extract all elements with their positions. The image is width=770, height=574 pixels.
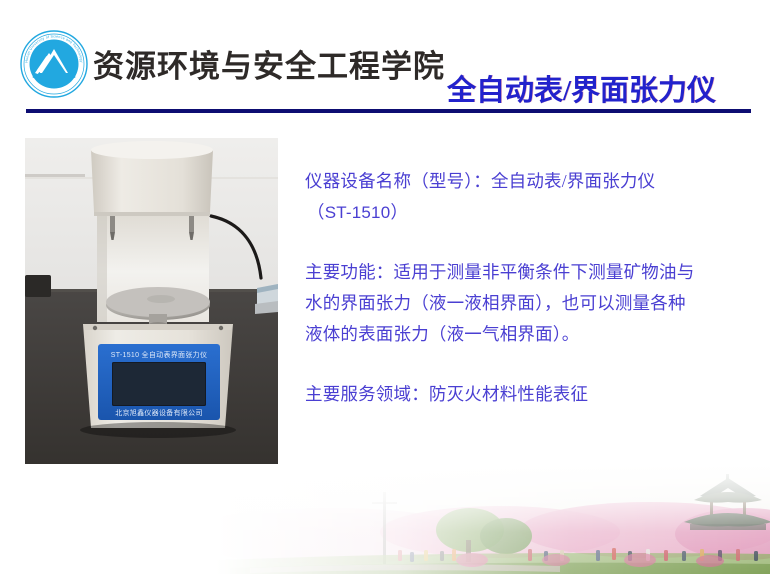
slide-title: 全自动表/界面张力仪 xyxy=(447,67,716,109)
slide-header: Hunan University of Science and Technolo… xyxy=(0,0,770,118)
header-divider xyxy=(26,109,751,113)
svg-text:北京旭鑫仪器设备有限公司: 北京旭鑫仪器设备有限公司 xyxy=(115,408,203,417)
model-paren-close: ） xyxy=(390,202,408,222)
university-logo: Hunan University of Science and Technolo… xyxy=(19,29,89,99)
campus-scene-illustration xyxy=(0,464,770,574)
main-function-line-3: 液体的表面张力（液一气相界面）。 xyxy=(305,319,755,350)
bottom-decoration xyxy=(0,464,770,574)
svg-text:ST-1510 全自动表界面张力仪: ST-1510 全自动表界面张力仪 xyxy=(111,350,208,359)
main-function-line-1: 主要功能：适用于测量非平衡条件下测量矿物油与 xyxy=(305,257,755,288)
main-function-line-2: 水的界面张力（液一液相界面），也可以测量各种 xyxy=(305,288,755,319)
instrument-photo-illustration: ST-1510 全自动表界面张力仪 北京旭鑫仪器设备有限公司 xyxy=(25,138,278,465)
service-field-line: 主要服务领域：防灭火材料性能表征 xyxy=(305,379,755,410)
paragraph-gap-1 xyxy=(305,228,755,257)
equipment-model-line: （ST-1510） xyxy=(305,197,755,228)
paragraph-gap-2 xyxy=(305,350,755,379)
model-paren-open: （ xyxy=(307,202,325,222)
instrument-photo: ST-1510 全自动表界面张力仪 北京旭鑫仪器设备有限公司 xyxy=(25,138,278,465)
university-emblem-icon: Hunan University of Science and Technolo… xyxy=(19,29,89,99)
description-text-block: 仪器设备名称（型号）：全自动表/界面张力仪 （ST-1510） 主要功能：适用于… xyxy=(305,166,755,410)
equipment-name-line: 仪器设备名称（型号）：全自动表/界面张力仪 xyxy=(305,166,755,197)
model-code: ST-1510 xyxy=(325,203,391,222)
school-name: 资源环境与安全工程学院 xyxy=(93,41,445,86)
